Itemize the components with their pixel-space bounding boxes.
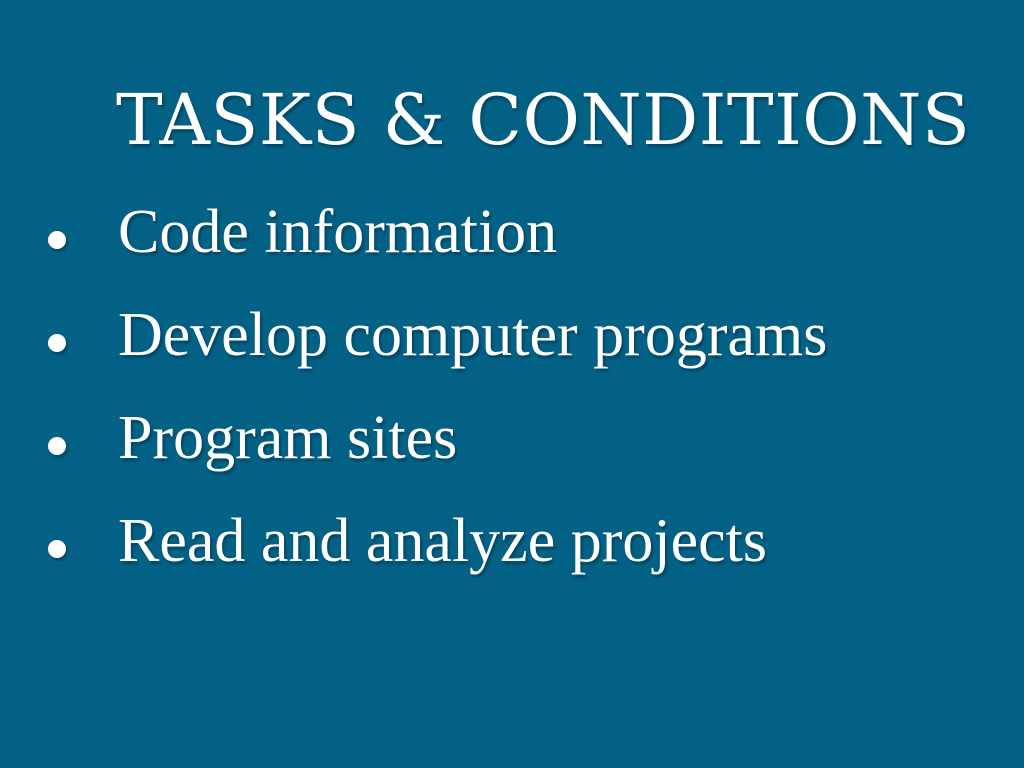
bullet-dot-icon [48, 540, 66, 558]
bullet-dot-icon [48, 231, 66, 249]
bullet-dot-icon [48, 334, 66, 352]
list-item-label: Read and analyze projects [118, 505, 767, 577]
list-item-label: Develop computer programs [118, 299, 827, 371]
list-item-label: Code information [118, 196, 557, 268]
bullet-list: Code information Develop computer progra… [0, 196, 1024, 608]
list-item-label: Program sites [118, 402, 457, 474]
presentation-slide: TASKS & CONDITIONS Code information Deve… [0, 0, 1024, 768]
list-item: Read and analyze projects [0, 505, 1024, 608]
list-item: Develop computer programs [0, 299, 1024, 402]
page-title: TASKS & CONDITIONS [116, 85, 970, 155]
bullet-dot-icon [48, 437, 66, 455]
list-item: Code information [0, 196, 1024, 299]
list-item: Program sites [0, 402, 1024, 505]
